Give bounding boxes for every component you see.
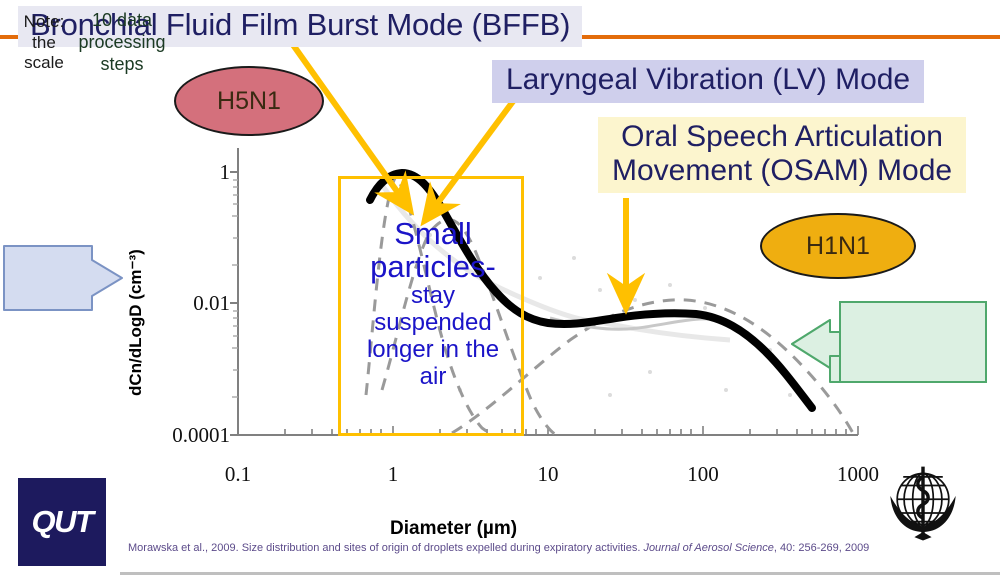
y-tick-label-0.0001: 0.0001 bbox=[140, 423, 230, 448]
virus-badge-h1n1: H1N1 bbox=[760, 213, 916, 279]
x-tick-label-1: 1 bbox=[363, 462, 423, 487]
callout-osam-title: Oral Speech Articulation Movement (OSAM)… bbox=[598, 117, 966, 193]
small-particles-annotation: Small particles- stay suspended longer i… bbox=[338, 218, 528, 391]
y-axis-major-ticks bbox=[230, 172, 238, 435]
source-citation: Morawska et al., 2009. Size distribution… bbox=[128, 542, 988, 554]
x-tick-label-100: 100 bbox=[673, 462, 733, 487]
virus-badge-h5n1: H5N1 bbox=[174, 66, 324, 136]
note-scale-callout bbox=[2, 238, 154, 318]
qut-logo-text: QUT bbox=[32, 504, 93, 540]
slide-canvas: 1 0.01 0.0001 0.1 1 10 100 1000 dCn/dLog… bbox=[0, 0, 1000, 576]
y-tick-label-1: 1 bbox=[150, 160, 230, 185]
processing-steps-callout bbox=[790, 298, 988, 386]
x-tick-label-10: 10 bbox=[518, 462, 578, 487]
qut-logo: QUT bbox=[18, 478, 106, 566]
x-tick-label-0.1: 0.1 bbox=[208, 462, 268, 487]
who-logo bbox=[880, 458, 966, 544]
x-axis-title: Diameter (µm) bbox=[390, 518, 517, 540]
callout-lv-title: Laryngeal Vibration (LV) Mode bbox=[492, 60, 924, 103]
processing-steps-label: 10 data processing steps bbox=[58, 10, 186, 76]
bottom-divider-rule bbox=[120, 572, 1000, 575]
citation-part2: , 40: 256-269, 2009 bbox=[774, 542, 869, 554]
x-tick-label-1000: 1000 bbox=[828, 462, 888, 487]
y-tick-label-0.01: 0.01 bbox=[150, 291, 230, 316]
small-particles-subtext: stay suspended longer in the air bbox=[338, 283, 528, 391]
citation-journal: Journal of Aerosol Science bbox=[643, 542, 773, 554]
virus-badge-h1n1-label: H1N1 bbox=[806, 232, 870, 261]
virus-badge-h5n1-label: H5N1 bbox=[217, 87, 281, 116]
citation-part1: Morawska et al., 2009. Size distribution… bbox=[128, 542, 643, 554]
small-particles-headline: Small particles- bbox=[338, 218, 528, 283]
